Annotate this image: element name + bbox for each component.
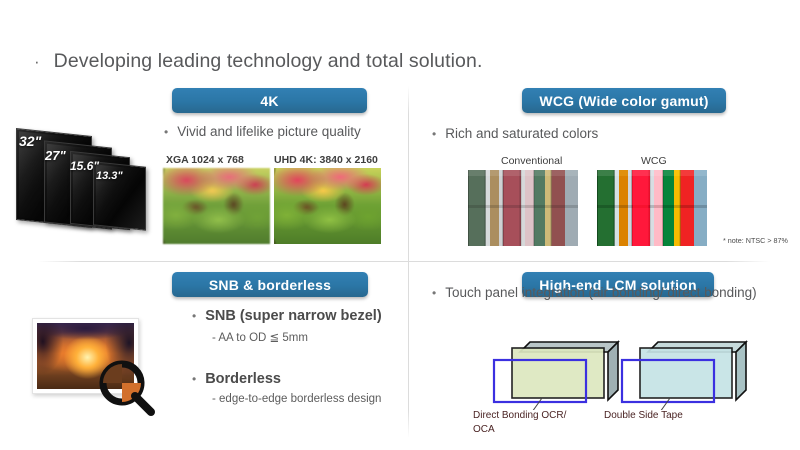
section-header-wcg: WCG (Wide color gamut) — [522, 88, 726, 113]
bullet-snb-heading: SNB (super narrow bezel) — [205, 308, 381, 324]
bullet-marker-icon: • — [192, 373, 196, 385]
vertical-divider — [408, 86, 409, 438]
bullet-snb: • SNB (super narrow bezel) — [192, 308, 382, 324]
slide-canvas: · Developing leading technology and tota… — [0, 0, 800, 450]
section-header-snb: SNB & borderless — [172, 272, 368, 297]
bullet-marker-icon: • — [432, 128, 436, 140]
bullet-borderless-sub: - edge-to-edge borderless design — [212, 393, 381, 405]
bullet-wcg: • Rich and saturated colors — [432, 126, 598, 141]
bullet-4k-text: Vivid and lifelike picture quality — [177, 124, 361, 139]
diagram-direct-bonding — [490, 338, 620, 410]
caption-xga: XGA 1024 x 768 — [166, 154, 244, 166]
photo-facade-conventional — [468, 170, 578, 246]
panel-size-label-27: 27" — [45, 148, 66, 163]
bullet-marker-icon: • — [432, 287, 436, 299]
bullet-marker-icon: • — [192, 310, 196, 322]
diagram-label-double-side-tape: Double Side Tape — [604, 409, 683, 423]
diagram-double-side-tape — [618, 338, 748, 410]
photo-garden-xga — [163, 168, 270, 244]
panel-size-label-32: 32" — [19, 133, 41, 149]
bullet-wcg-text: Rich and saturated colors — [445, 126, 598, 141]
headline-bullet-icon: · — [34, 53, 40, 70]
bullet-snb-sub: - AA to OD ≦ 5mm — [212, 330, 308, 344]
slide-headline: · Developing leading technology and tota… — [34, 50, 482, 73]
bullet-4k: • Vivid and lifelike picture quality — [164, 124, 361, 139]
section-header-4k: 4K — [172, 88, 367, 113]
photo-facade-wcg — [597, 170, 707, 246]
panel-size-label-13: 13.3" — [96, 170, 123, 182]
bullet-lcm-text: Touch panel integration (air bonding/ di… — [445, 285, 756, 300]
photo-garden-uhd — [274, 168, 381, 244]
caption-uhd: UHD 4K: 3840 x 2160 — [274, 154, 378, 166]
horizontal-divider — [38, 261, 770, 262]
bullet-borderless: • Borderless — [192, 371, 281, 387]
magnifier-icon — [98, 359, 156, 417]
headline-text: Developing leading technology and total … — [54, 50, 483, 73]
bullet-lcm: • Touch panel integration (air bonding/ … — [432, 285, 757, 300]
caption-wcg: WCG — [641, 155, 667, 167]
caption-conventional: Conventional — [501, 155, 562, 167]
panel-size-label-15: 15.6" — [70, 159, 99, 173]
wcg-note: * note: NTSC > 87% — [723, 236, 788, 245]
panel-size-stack: 32" 27" 15.6" 13.3" — [8, 124, 166, 236]
diagram-label-direct-bonding: Direct Bonding OCR/ OCA — [473, 409, 566, 437]
bullet-borderless-heading: Borderless — [205, 371, 281, 387]
